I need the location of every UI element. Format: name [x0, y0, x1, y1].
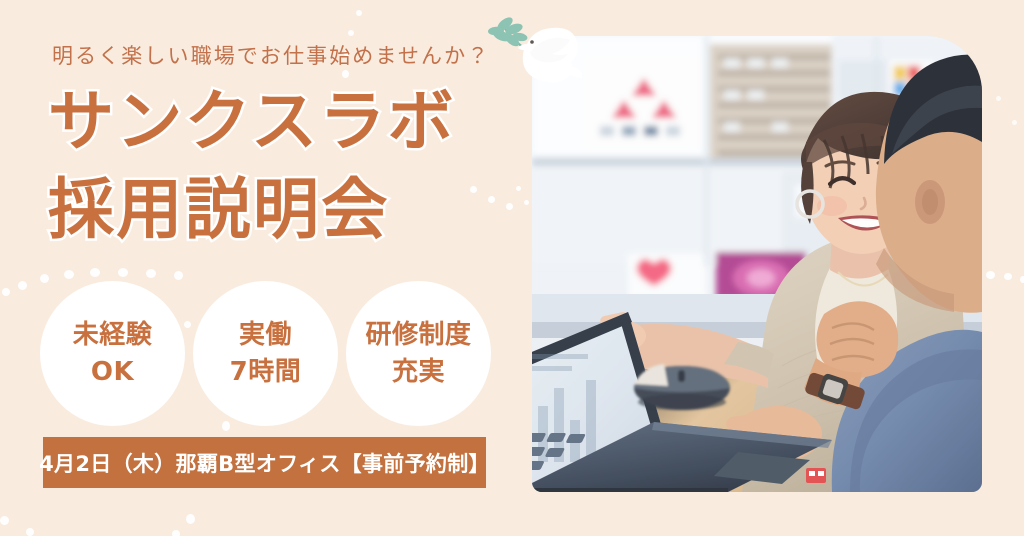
feature-badge-hours: 実働 7時間 — [193, 281, 338, 426]
badge-line-2: 7時間 — [230, 354, 302, 391]
badge-line-2: OK — [91, 354, 134, 391]
dove-with-olive-branch-icon — [472, 4, 582, 90]
event-details-banner: 4月2日（木）那覇B型オフィス【事前予約制】 — [43, 437, 486, 488]
recruitment-poster: P — [0, 0, 1024, 536]
badge-line-1: 未経験 — [73, 317, 153, 354]
badge-line-2: 充実 — [392, 354, 445, 391]
badge-line-1: 研修制度 — [365, 317, 471, 354]
headline-line-2: 採用説明会 — [48, 166, 518, 254]
feature-badge-experience: 未経験 OK — [40, 281, 185, 426]
office-interview-photo: P — [532, 36, 982, 492]
feature-badge-group: 未経験 OK 実働 7時間 研修制度 充実 — [40, 281, 491, 426]
feature-badge-training: 研修制度 充実 — [346, 281, 491, 426]
headline-line-1: サンクスラボ — [48, 78, 518, 166]
page-title: サンクスラボ 採用説明会 — [48, 78, 518, 255]
tagline: 明るく楽しい職場でお仕事始めませんか？ — [52, 40, 490, 70]
badge-line-1: 実働 — [239, 317, 292, 354]
